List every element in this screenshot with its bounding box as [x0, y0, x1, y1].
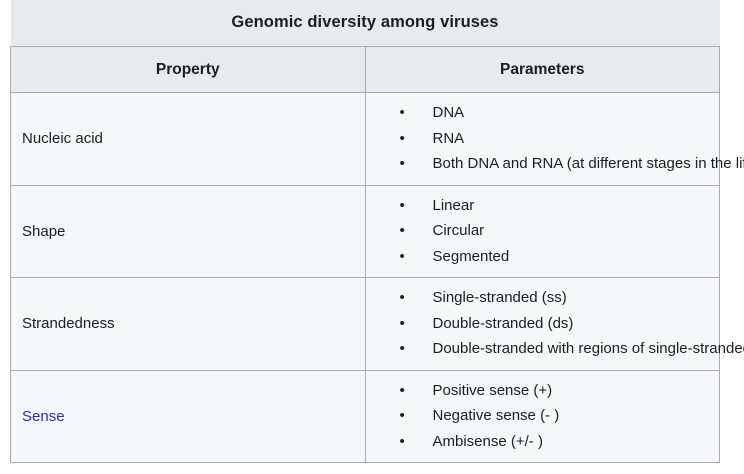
parameters-cell-strandedness: •Single-stranded (ss) •Double-stranded (…	[365, 278, 720, 371]
bullet-icon: •	[400, 311, 410, 337]
column-header-parameters: Parameters	[365, 47, 720, 93]
parameter-list: •Positive sense (+) •Negative sense (- )…	[372, 378, 714, 455]
list-item: •Negative sense (- )	[400, 403, 714, 429]
bullet-icon: •	[400, 429, 410, 455]
bullet-icon: •	[400, 218, 410, 244]
parameters-cell-sense: •Positive sense (+) •Negative sense (- )…	[365, 370, 720, 463]
parameter-list: •Linear •Circular •Segmented	[372, 193, 714, 270]
sense-link[interactable]: Sense	[22, 408, 65, 425]
table-row: Strandedness •Single-stranded (ss) •Doub…	[11, 278, 720, 371]
list-item-label: RNA	[433, 130, 465, 147]
list-item-label: Circular	[433, 222, 485, 239]
property-cell-strandedness: Strandedness	[11, 278, 366, 371]
list-item-label: Linear	[433, 197, 475, 214]
list-item: •Circular	[400, 218, 714, 244]
parameters-cell-shape: •Linear •Circular •Segmented	[365, 185, 720, 278]
list-item-label: Segmented	[433, 248, 510, 265]
property-cell-nucleic-acid: Nucleic acid	[11, 93, 366, 186]
property-cell-shape: Shape	[11, 185, 366, 278]
parameters-cell-nucleic-acid: •DNA •RNA •Both DNA and RNA (at differen…	[365, 93, 720, 186]
table-title-row: Genomic diversity among viruses	[11, 0, 720, 47]
list-item-label: Single-stranded (ss)	[433, 289, 567, 306]
table-row: Nucleic acid •DNA •RNA •Both DNA and RNA…	[11, 93, 720, 186]
list-item-label: Ambisense (+/- )	[433, 433, 543, 450]
list-item: •Double-stranded (ds)	[400, 311, 714, 337]
list-item-label: Negative sense (- )	[433, 407, 560, 424]
list-item-label: Double-stranded with regions of single-s…	[433, 340, 744, 357]
genomic-diversity-table-container: Genomic diversity among viruses Property…	[10, 0, 720, 463]
table-row: Shape •Linear •Circular •Segmented	[11, 185, 720, 278]
parameter-list: •DNA •RNA •Both DNA and RNA (at differen…	[372, 100, 714, 177]
list-item: •Single-stranded (ss)	[400, 285, 714, 311]
list-item-label: Both DNA and RNA (at different stages in…	[433, 155, 744, 172]
column-header-property: Property	[11, 47, 366, 93]
bullet-icon: •	[400, 244, 410, 270]
list-item: •Both DNA and RNA (at different stages i…	[400, 151, 714, 177]
bullet-icon: •	[400, 403, 410, 429]
list-item-label: DNA	[433, 104, 465, 121]
table-title: Genomic diversity among viruses	[11, 0, 720, 47]
genomic-diversity-table: Genomic diversity among viruses Property…	[10, 0, 720, 463]
list-item: •Ambisense (+/- )	[400, 429, 714, 455]
bullet-icon: •	[400, 126, 410, 152]
list-item: •Segmented	[400, 244, 714, 270]
list-item: •Positive sense (+)	[400, 378, 714, 404]
bullet-icon: •	[400, 378, 410, 404]
table-row: Sense •Positive sense (+) •Negative sens…	[11, 370, 720, 463]
list-item: •Double-stranded with regions of single-…	[400, 336, 714, 362]
list-item: •DNA	[400, 100, 714, 126]
bullet-icon: •	[400, 285, 410, 311]
table-header-row: Property Parameters	[11, 47, 720, 93]
list-item: •RNA	[400, 126, 714, 152]
list-item-label: Double-stranded (ds)	[433, 315, 574, 332]
list-item: •Linear	[400, 193, 714, 219]
bullet-icon: •	[400, 151, 410, 177]
bullet-icon: •	[400, 336, 410, 362]
bullet-icon: •	[400, 100, 410, 126]
parameter-list: •Single-stranded (ss) •Double-stranded (…	[372, 285, 714, 362]
list-item-label: Positive sense (+)	[433, 382, 553, 399]
property-cell-sense: Sense	[11, 370, 366, 463]
bullet-icon: •	[400, 193, 410, 219]
